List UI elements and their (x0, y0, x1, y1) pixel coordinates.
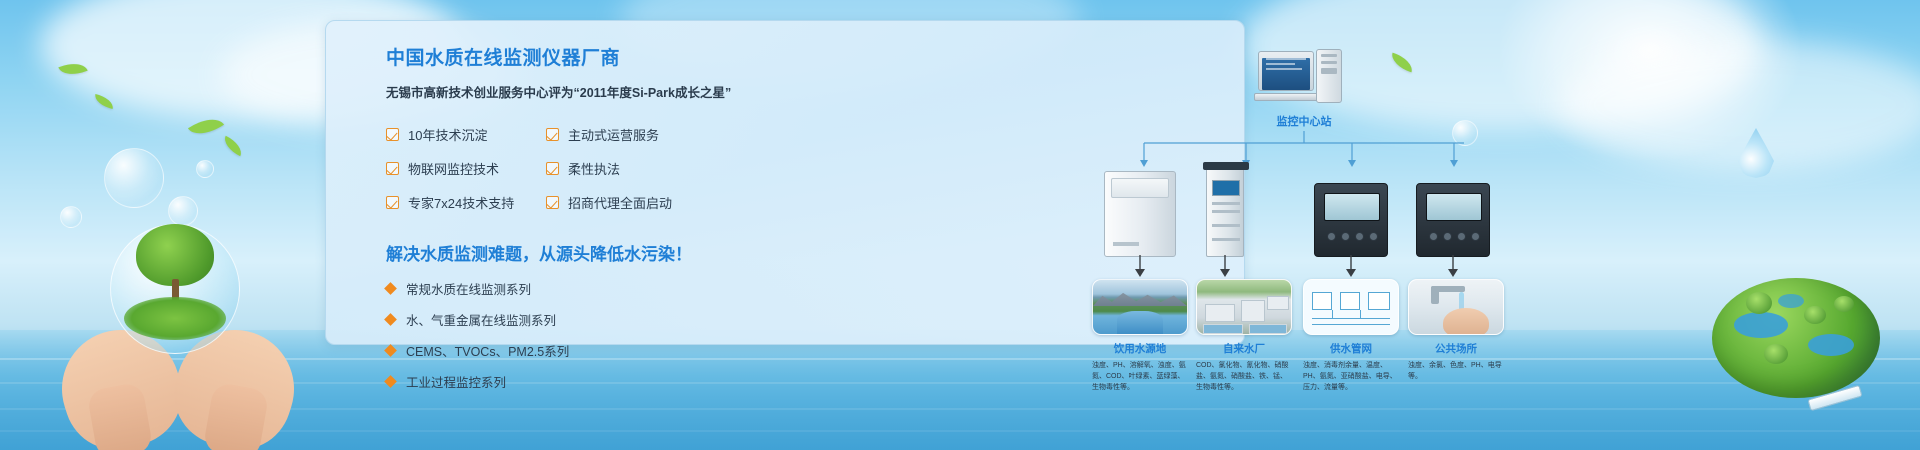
monitoring-center-computer-icon (1258, 49, 1348, 107)
product-series-label: 常规水质在线监测系列 (406, 279, 531, 298)
water-plant-photo (1196, 279, 1292, 335)
application-card-public-places[interactable]: 公共场所 浊度、余氯、色度、PH、电导等。 (1408, 279, 1504, 382)
application-params: 浊度、消毒剂余量、温度、PH、氨氮、亚硝酸盐、电导、压力、流量等。 (1303, 360, 1399, 394)
product-series-item[interactable]: 常规水质在线监测系列 (386, 279, 736, 298)
promo-card: 中国水质在线监测仪器厂商 无锡市高新技术创业服务中心评为“2011年度Si-Pa… (325, 20, 1245, 345)
check-icon (386, 196, 399, 209)
diamond-bullet-icon (384, 282, 397, 295)
green-earth-illustration (1712, 278, 1880, 398)
device-row (1086, 165, 1516, 257)
water-supply-network-diagram (1303, 279, 1399, 335)
leaf-decoration (58, 58, 87, 81)
feature-item[interactable]: 柔性执法 (546, 159, 706, 178)
card-text-column: 中国水质在线监测仪器厂商 无锡市高新技术创业服务中心评为“2011年度Si-Pa… (386, 43, 736, 403)
leaf-decoration (93, 94, 115, 109)
tree-globe-icon (110, 224, 240, 354)
bubble-decoration (104, 148, 164, 208)
application-params: 浊度、余氯、色度、PH、电导等。 (1408, 360, 1504, 382)
check-icon (546, 128, 559, 141)
feature-label: 主动式运营服务 (568, 125, 659, 144)
controller-device-2[interactable] (1416, 183, 1490, 257)
feature-item[interactable]: 主动式运营服务 (546, 125, 706, 144)
public-places-photo (1408, 279, 1504, 335)
water-droplet-icon (1738, 128, 1774, 178)
feature-item[interactable]: 专家7x24技术支持 (386, 193, 546, 212)
diamond-bullet-icon (384, 344, 397, 357)
check-icon (386, 128, 399, 141)
system-topology-diagram: 监控中心站 (1086, 43, 1516, 353)
application-name: 供水管网 (1303, 341, 1399, 356)
application-params: 浊度、PH、溶解氧、浊度、氨氮、COD、叶绿素、蓝绿藻、生物毒性等。 (1092, 360, 1188, 394)
monitoring-center-label: 监控中心站 (1236, 113, 1372, 129)
feature-label: 物联网监控技术 (408, 159, 499, 178)
application-card-drinking-water-source[interactable]: 饮用水源地 浊度、PH、溶解氧、浊度、氨氮、COD、叶绿素、蓝绿藻、生物毒性等。 (1092, 279, 1188, 394)
connector-lines (1086, 131, 1516, 167)
hands-holding-tree-illustration (58, 200, 298, 450)
product-series-item[interactable]: CEMS、TVOCs、PM2.5系列 (386, 341, 736, 360)
feature-item[interactable]: 10年技术沉淀 (386, 125, 546, 144)
feature-checklist: 10年技术沉淀 主动式运营服务 物联网监控技术 柔性执法 专家7x24技术支持 … (386, 125, 736, 212)
controller-device-1[interactable] (1314, 183, 1388, 257)
drinking-water-source-photo (1092, 279, 1188, 335)
leaf-decoration (220, 136, 245, 156)
diamond-bullet-icon (384, 313, 397, 326)
feature-label: 招商代理全面启动 (568, 193, 672, 212)
check-icon (386, 162, 399, 175)
section-heading: 解决水质监测难题，从源头降低水污染！ (386, 240, 736, 265)
downward-arrows (1086, 255, 1516, 279)
product-series-label: 水、气重金属在线监测系列 (406, 310, 556, 329)
feature-label: 10年技术沉淀 (408, 125, 487, 144)
feature-label: 专家7x24技术支持 (408, 193, 514, 212)
application-name: 公共场所 (1408, 341, 1504, 356)
page-title: 中国水质在线监测仪器厂商 (386, 43, 736, 70)
analyzer-cabinet-device[interactable] (1104, 171, 1176, 257)
feature-label: 柔性执法 (568, 159, 620, 178)
application-name: 饮用水源地 (1092, 341, 1188, 356)
feature-item[interactable]: 物联网监控技术 (386, 159, 546, 178)
product-series-label: 工业过程监控系列 (406, 372, 506, 391)
product-series-item[interactable]: 工业过程监控系列 (386, 372, 736, 391)
application-card-water-supply-network[interactable]: 供水管网 浊度、消毒剂余量、温度、PH、氨氮、亚硝酸盐、电导、压力、流量等。 (1303, 279, 1399, 394)
diamond-bullet-icon (384, 375, 397, 388)
check-icon (546, 162, 559, 175)
sampling-rack-device[interactable] (1206, 167, 1244, 257)
check-icon (546, 196, 559, 209)
feature-item[interactable]: 招商代理全面启动 (546, 193, 706, 212)
page-subtitle: 无锡市高新技术创业服务中心评为“2011年度Si-Park成长之星” (386, 82, 736, 101)
application-params: COD、氯化物、氰化物、硝酸盐、氨氮、硝酸盐、铁、锰、生物毒性等。 (1196, 360, 1292, 394)
bubble-decoration (196, 160, 214, 178)
leaf-decoration (188, 111, 224, 143)
application-card-water-plant[interactable]: 自来水厂 COD、氯化物、氰化物、硝酸盐、氨氮、硝酸盐、铁、锰、生物毒性等。 (1196, 279, 1292, 394)
product-series-label: CEMS、TVOCs、PM2.5系列 (406, 341, 569, 360)
product-series-list: 常规水质在线监测系列 水、气重金属在线监测系列 CEMS、TVOCs、PM2.5… (386, 279, 736, 391)
product-series-item[interactable]: 水、气重金属在线监测系列 (386, 310, 736, 329)
cloud-decoration (1560, 40, 1920, 170)
application-name: 自来水厂 (1196, 341, 1292, 356)
